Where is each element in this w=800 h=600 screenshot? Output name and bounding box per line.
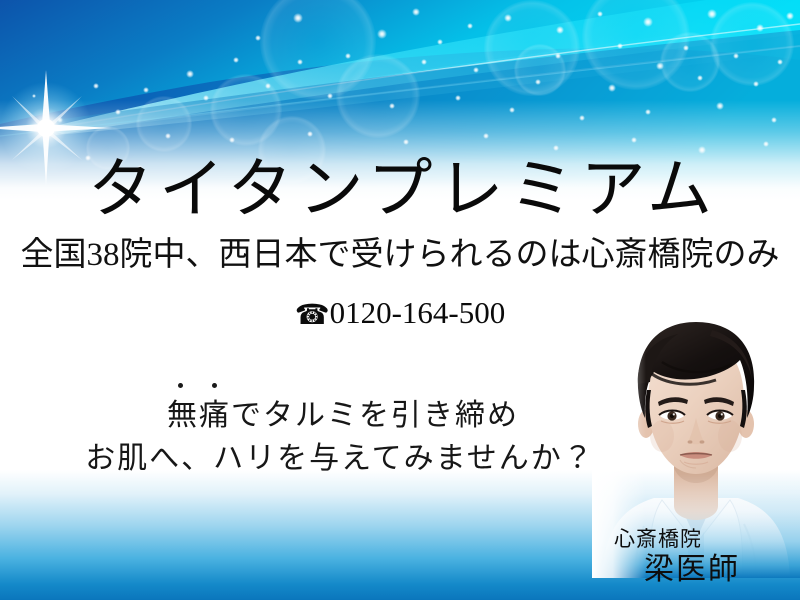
credit-doctor-name: 梁医師 [644, 552, 740, 588]
pitch-line-1-rest: でタルミを引き締め [231, 399, 519, 432]
page-title: タイタンプレミアム [0, 158, 800, 223]
pitch-line-2: お肌へ、ハリを与えてみませんか？ [60, 438, 620, 481]
pitch-copy: 無痛でタルミを引き締め お肌へ、ハリを与えてみませんか？ [60, 395, 620, 480]
telephone-icon: ☎ [295, 300, 330, 331]
emphasis-marked-text: 無痛 [167, 399, 231, 432]
pitch-emphasis-word: 無痛 [167, 399, 231, 432]
pitch-line-1: 無痛でタルミを引き締め [66, 395, 620, 438]
credit-clinic-name: 心斎橋院 [614, 526, 740, 552]
doctor-credit: 心斎橋院 梁医師 [614, 526, 740, 588]
subtitle: 全国38院中、西日本で受けられるのは心斎橋院のみ [0, 237, 800, 273]
emphasis-dot-icon [212, 383, 217, 388]
phone-number[interactable]: 0120-164-500 [330, 295, 506, 330]
emphasis-dot-icon [178, 383, 183, 388]
poster-text-layer: タイタンプレミアム 全国38院中、西日本で受けられるのは心斎橋院のみ ☎0120… [0, 0, 800, 600]
phone-number-line[interactable]: ☎0120-164-500 [0, 296, 800, 332]
poster-canvas: タイタンプレミアム 全国38院中、西日本で受けられるのは心斎橋院のみ ☎0120… [0, 0, 800, 600]
